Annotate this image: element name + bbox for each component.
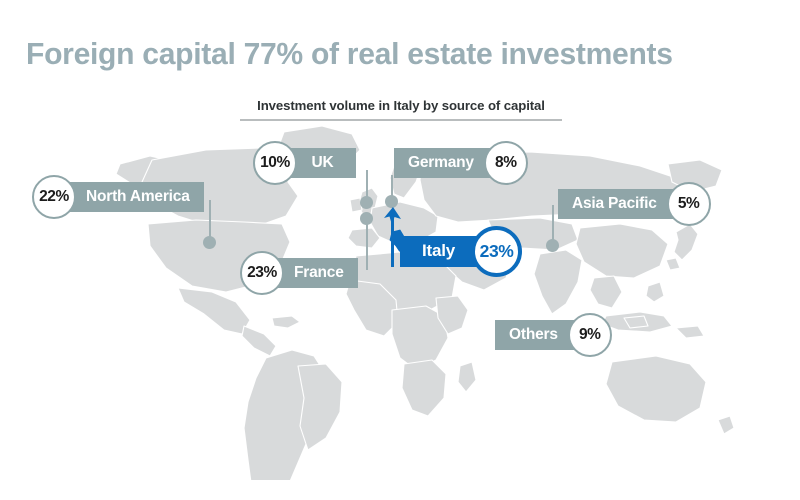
- callout-label-asia-pacific: Asia Pacific: [572, 195, 657, 213]
- chart-subtitle-block: Investment volume in Italy by source of …: [240, 98, 562, 121]
- map-region-central-america: [242, 326, 276, 356]
- callout-value-bubble-north-america: 22%: [32, 175, 76, 219]
- callout-bar-france: France: [276, 258, 358, 288]
- callout-value-asia-pacific: 5%: [678, 195, 700, 213]
- callout-asia-pacific[interactable]: Asia Pacific 5%: [558, 189, 711, 219]
- callout-label-north-america: North America: [86, 188, 190, 206]
- callout-value-north-america: 22%: [39, 188, 69, 206]
- callout-value-france: 23%: [247, 264, 277, 282]
- italy-arrow-icon: [382, 205, 404, 227]
- callout-label-france: France: [294, 264, 344, 282]
- callout-value-bubble-asia-pacific: 5%: [667, 182, 711, 226]
- callout-bar-germany: Germany: [394, 148, 492, 178]
- page-title: Foreign capital 77% of real estate inves…: [26, 36, 673, 72]
- callout-value-bubble-germany: 8%: [484, 141, 528, 185]
- connector-dot-north-america: [203, 236, 216, 249]
- callout-value-bubble-uk: 10%: [253, 141, 297, 185]
- callout-bar-italy: Italy: [400, 236, 479, 267]
- callout-value-bubble-france: 23%: [240, 251, 284, 295]
- callout-germany[interactable]: Germany 8%: [394, 148, 528, 178]
- map-region-japan: [674, 224, 698, 260]
- callout-value-germany: 8%: [495, 154, 517, 172]
- map-region-china: [576, 224, 668, 278]
- callout-uk[interactable]: 10% UK: [253, 148, 356, 178]
- callout-north-america[interactable]: 22% North America: [32, 182, 204, 212]
- map-region-new-zealand: [718, 416, 734, 434]
- map-region-png: [676, 326, 704, 338]
- callout-value-bubble-others: 9%: [568, 313, 612, 357]
- callout-bar-asia-pacific: Asia Pacific: [558, 189, 675, 219]
- callout-value-uk: 10%: [260, 154, 290, 172]
- callout-label-others: Others: [509, 326, 558, 344]
- callout-label-germany: Germany: [408, 154, 474, 172]
- callout-value-italy: 23%: [480, 241, 514, 262]
- chart-subtitle: Investment volume in Italy by source of …: [240, 98, 562, 113]
- connector-dot-uk: [360, 196, 373, 209]
- map-region-mexico: [178, 288, 250, 334]
- map-region-southern-africa: [402, 360, 446, 416]
- callout-bar-north-america: North America: [68, 182, 204, 212]
- callout-bar-uk: UK: [289, 148, 356, 178]
- callout-value-bubble-italy: 23%: [471, 226, 522, 277]
- map-region-india: [534, 250, 582, 314]
- map-region-sea-mainland: [590, 276, 622, 308]
- callout-france[interactable]: 23% France: [240, 258, 358, 288]
- callout-others[interactable]: Others 9%: [495, 320, 612, 350]
- map-region-caribbean: [272, 316, 300, 328]
- map-region-brazil: [298, 364, 342, 450]
- callout-italy[interactable]: Italy 23%: [400, 236, 522, 266]
- connector-line-france: [366, 218, 368, 270]
- callout-value-others: 9%: [579, 326, 601, 344]
- map-region-madagascar: [458, 362, 476, 392]
- callout-label-uk: UK: [312, 154, 334, 172]
- connector-dot-france: [360, 212, 373, 225]
- map-region-japan-south: [666, 258, 680, 270]
- map-region-australia: [606, 356, 706, 422]
- map-region-philippines: [646, 282, 664, 302]
- connector-dot-asia-pacific: [546, 239, 559, 252]
- callout-label-italy: Italy: [422, 241, 455, 261]
- callout-bar-others: Others: [495, 320, 576, 350]
